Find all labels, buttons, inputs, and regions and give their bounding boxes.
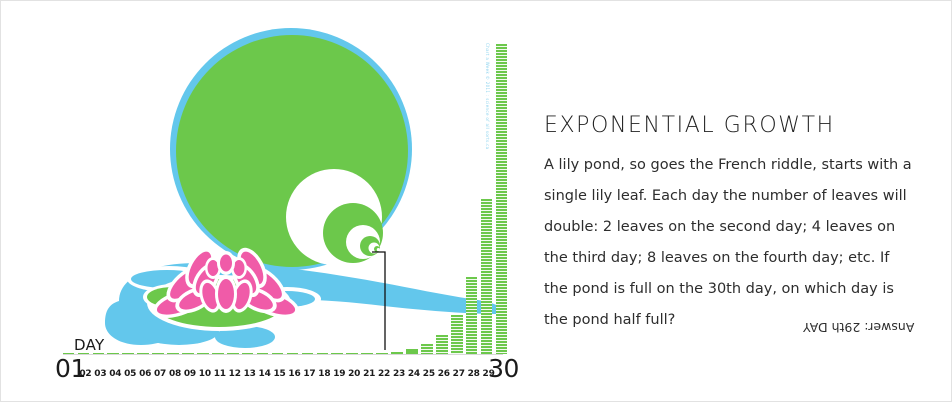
bar-day-27 [451,315,463,354]
day-label-18: 18 [318,369,330,379]
bar-day-29 [481,199,493,354]
bar-day-30 [496,44,508,354]
day-label-16: 16 [288,369,300,379]
day-label-25: 25 [423,369,435,379]
page-title: EXPONENTIAL GROWTH [544,113,916,138]
day-label-08: 08 [169,369,181,379]
infographic-page: Chart a Week © 2011 : science of all sor… [0,0,952,402]
axis-day-word: DAY [74,336,104,354]
answer-text: Answer: 29th DAY [803,320,914,335]
day-label-02: 02 [79,369,91,379]
day-label-12: 12 [229,369,241,379]
day-label-14: 14 [259,369,271,379]
day-label-03: 03 [94,369,106,379]
day-label-13: 13 [244,369,256,379]
day-label-11: 11 [214,369,226,379]
axis-day-labels: 0102030405060708091011121314151617181920… [63,355,515,379]
day-label-24: 24 [408,369,420,379]
day-label-06: 06 [139,369,151,379]
bar-day-28 [466,277,478,355]
day-label-20: 20 [348,369,360,379]
day-label-22: 22 [378,369,390,379]
day-label-09: 09 [184,369,196,379]
day-label-07: 07 [154,369,166,379]
bar-day-25 [421,344,433,354]
article-body: A lily pond, so goes the French riddle, … [544,150,916,336]
day-label-19: 19 [333,369,345,379]
day-label-17: 17 [303,369,315,379]
day-23-leader-line [371,251,391,351]
day-label-30: 30 [488,354,519,383]
day-label-27: 27 [453,369,465,379]
article-panel: EXPONENTIAL GROWTH A lily pond, so goes … [544,113,916,336]
day-label-15: 15 [273,369,285,379]
day-label-28: 28 [468,369,480,379]
bar-day-26 [436,335,448,354]
day-label-21: 21 [363,369,375,379]
day-label-05: 05 [124,369,136,379]
day-label-10: 10 [199,369,211,379]
day-label-23: 23 [393,369,405,379]
chart-credit-text: Chart a Week © 2011 : science of all sor… [485,43,490,123]
day-label-26: 26 [438,369,450,379]
day-label-04: 04 [109,369,121,379]
exponential-bar-chart [61,44,509,354]
